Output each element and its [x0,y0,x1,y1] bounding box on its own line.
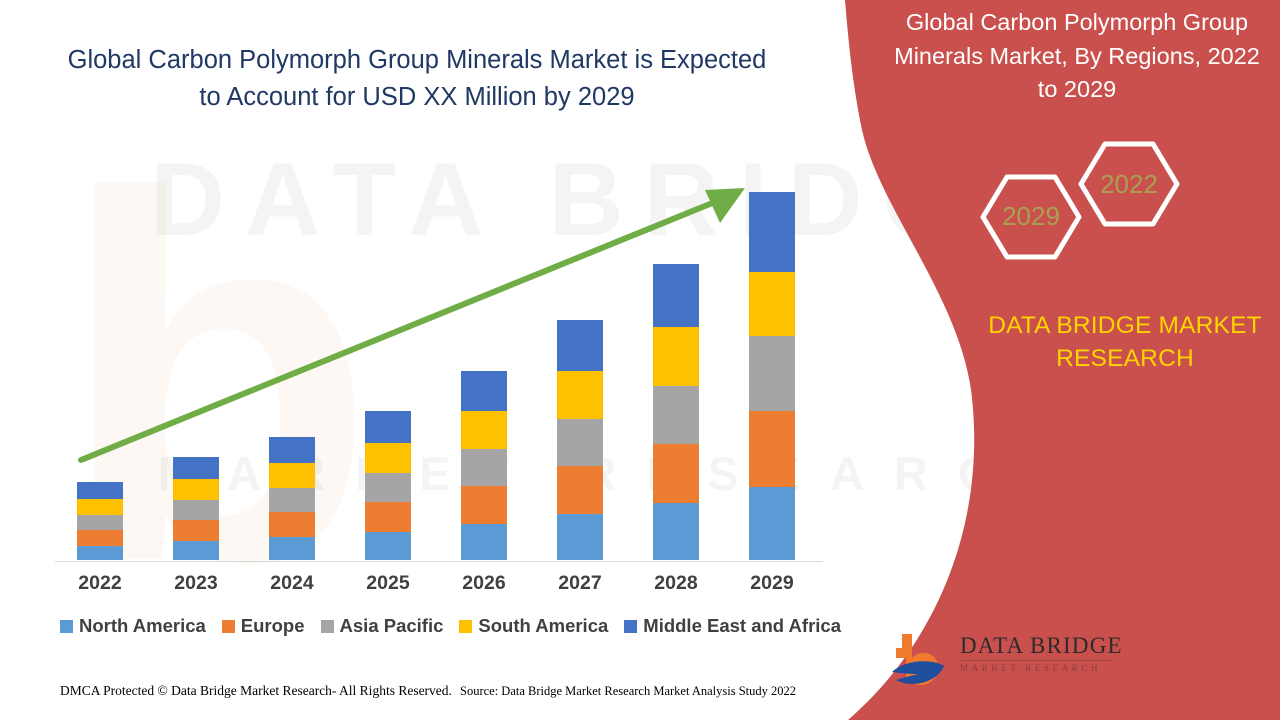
panel-title: Global Carbon Polymorph Group Minerals M… [893,6,1261,107]
segment-asia-pacific [461,449,507,486]
x-label-2026: 2026 [444,572,524,595]
x-label-2028: 2028 [636,572,716,595]
bar-group-2024 [269,437,315,560]
segment-south-america [173,479,219,500]
bar-group-2029 [749,192,795,560]
segment-south-america [557,371,603,419]
segment-europe [461,486,507,524]
x-label-2029: 2029 [732,572,812,595]
bar-group-2025 [365,411,411,560]
segment-europe [77,530,123,546]
brand-name: DATA BRIDGE MARKET RESEARCH [965,310,1280,375]
segment-north-america [557,514,603,560]
segment-north-america [365,532,411,560]
legend-label-south-america: South America [478,615,608,637]
segment-europe [749,411,795,487]
bar-2023[interactable] [173,457,219,560]
bar-group-2026 [461,371,507,560]
segment-middle-east-and-africa [653,264,699,327]
legend-item-middle-east-and-africa[interactable]: Middle East and Africa [624,615,841,637]
hexagon-label-2029: 2029 [1002,201,1060,231]
segment-asia-pacific [749,336,795,411]
legend-swatch-north-america [60,620,73,633]
stacked-bar-chart [55,150,835,562]
x-label-2023: 2023 [156,572,236,595]
x-label-2022: 2022 [60,572,140,595]
infographic-canvas: b DATA BRIDGE MARKET RESEARCH Global Car… [0,0,1280,720]
bar-2024[interactable] [269,437,315,560]
segment-north-america [269,537,315,560]
segment-middle-east-and-africa [461,371,507,411]
chart-axis-line [55,561,823,562]
segment-south-america [77,499,123,515]
legend-swatch-south-america [459,620,472,633]
segment-europe [557,466,603,514]
segment-south-america [653,327,699,386]
hexagon-badges: 2029 2022 [975,125,1190,285]
logo-divider [961,660,1113,661]
logo-main-text: DATA BRIDGE [960,634,1120,657]
dmca-notice: DMCA Protected © Data Bridge Market Rese… [60,683,452,699]
legend-item-south-america[interactable]: South America [459,615,608,637]
segment-asia-pacific [365,473,411,502]
segment-asia-pacific [557,419,603,466]
logo-wordmark: DATA BRIDGE MARKET RESEARCH [960,634,1120,673]
segment-north-america [461,524,507,560]
segment-south-america [461,411,507,449]
segment-asia-pacific [653,386,699,444]
legend-label-europe: Europe [241,615,305,637]
bar-2026[interactable] [461,371,507,560]
legend-label-asia-pacific: Asia Pacific [340,615,444,637]
segment-europe [173,520,219,541]
bar-group-2022 [77,482,123,560]
legend-swatch-middle-east-and-africa [624,620,637,633]
segment-europe [365,502,411,532]
hexagon-label-2022: 2022 [1100,169,1158,199]
segment-asia-pacific [269,488,315,512]
segment-europe [269,512,315,537]
segment-south-america [365,443,411,473]
bar-group-2023 [173,457,219,560]
bar-group-2027 [557,320,603,560]
chart-legend: North America Europe Asia Pacific South … [60,615,850,637]
source-note: Source: Data Bridge Market Research Mark… [460,684,796,699]
legend-label-north-america: North America [79,615,206,637]
segment-north-america [749,487,795,560]
legend-label-middle-east-and-africa: Middle East and Africa [643,615,841,637]
bar-2025[interactable] [365,411,411,560]
segment-south-america [269,463,315,488]
segment-north-america [77,546,123,560]
legend-swatch-asia-pacific [321,620,334,633]
bar-2022[interactable] [77,482,123,560]
segment-south-america [749,272,795,336]
bar-2027[interactable] [557,320,603,560]
segment-middle-east-and-africa [77,482,123,499]
x-axis-labels: 2022 2023 2024 2025 2026 2027 2028 2029 [55,572,835,602]
page-title: Global Carbon Polymorph Group Minerals M… [62,42,772,116]
bar-2029[interactable] [749,192,795,560]
segment-middle-east-and-africa [557,320,603,371]
segment-middle-east-and-africa [173,457,219,479]
company-logo[interactable]: DATA BRIDGE MARKET RESEARCH [888,628,1103,700]
segment-middle-east-and-africa [749,192,795,272]
segment-middle-east-and-africa [365,411,411,443]
legend-swatch-europe [222,620,235,633]
legend-item-asia-pacific[interactable]: Asia Pacific [321,615,444,637]
segment-asia-pacific [77,515,123,530]
logo-sub-text: MARKET RESEARCH [960,664,1120,673]
x-label-2025: 2025 [348,572,428,595]
legend-item-north-america[interactable]: North America [60,615,206,637]
x-label-2024: 2024 [252,572,332,595]
segment-asia-pacific [173,500,219,520]
segment-middle-east-and-africa [269,437,315,463]
legend-item-europe[interactable]: Europe [222,615,305,637]
segment-europe [653,444,699,503]
x-label-2027: 2027 [540,572,620,595]
bar-2028[interactable] [653,264,699,560]
bar-group-2028 [653,264,699,560]
segment-north-america [173,541,219,560]
segment-north-america [653,503,699,560]
logo-mark-icon [888,628,954,694]
